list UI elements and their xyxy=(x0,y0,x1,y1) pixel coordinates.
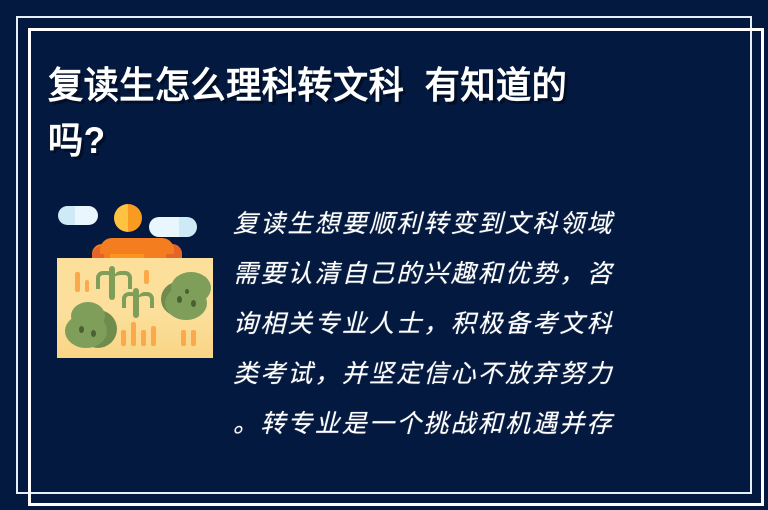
grass-tuft xyxy=(144,270,149,284)
article-line: 需要认清自己的兴趣和优势，咨 xyxy=(233,250,685,300)
article-line: 复读生想要顺利转变到文科领域 xyxy=(233,200,685,250)
grass-tuft xyxy=(85,280,89,292)
bush-icon-left xyxy=(63,300,119,350)
desert-scene-illustration xyxy=(52,196,217,364)
grass-tuft xyxy=(131,322,136,346)
grass-tuft xyxy=(121,330,126,346)
sun-icon xyxy=(114,204,142,232)
article-line: 询相关专业人士，积极备考文科 xyxy=(233,300,685,350)
article-line: 。转专业是一个挑战和机遇并存 xyxy=(233,400,685,450)
page-title: 复读生怎么理科转文科 有知道的 吗? xyxy=(48,58,688,168)
grass-tuft xyxy=(75,272,80,292)
desert-ground xyxy=(57,258,213,358)
bush-icon-right xyxy=(155,272,211,322)
poster-canvas: 复读生怎么理科转文科 有知道的 吗? xyxy=(0,0,768,510)
grass-tuft xyxy=(141,330,146,346)
title-line-1: 复读生怎么理科转文科 有知道的 xyxy=(48,58,656,113)
cactus-icon-small xyxy=(121,288,151,318)
article-line: 类考试，并坚定信心不放弃努力 xyxy=(233,350,685,400)
content-row: 复读生想要顺利转变到文科领域 需要认清自己的兴趣和优势，咨 询相关专业人士，积极… xyxy=(0,196,768,466)
cloud-icon-right xyxy=(149,217,197,237)
grass-tuft xyxy=(151,326,156,346)
cloud-icon-left xyxy=(58,206,98,225)
grass-tuft xyxy=(191,330,196,346)
grass-tuft xyxy=(181,330,186,346)
article-body: 复读生想要顺利转变到文科领域 需要认清自己的兴趣和优势，咨 询相关专业人士，积极… xyxy=(233,200,685,450)
title-line-2: 吗? xyxy=(48,113,656,168)
